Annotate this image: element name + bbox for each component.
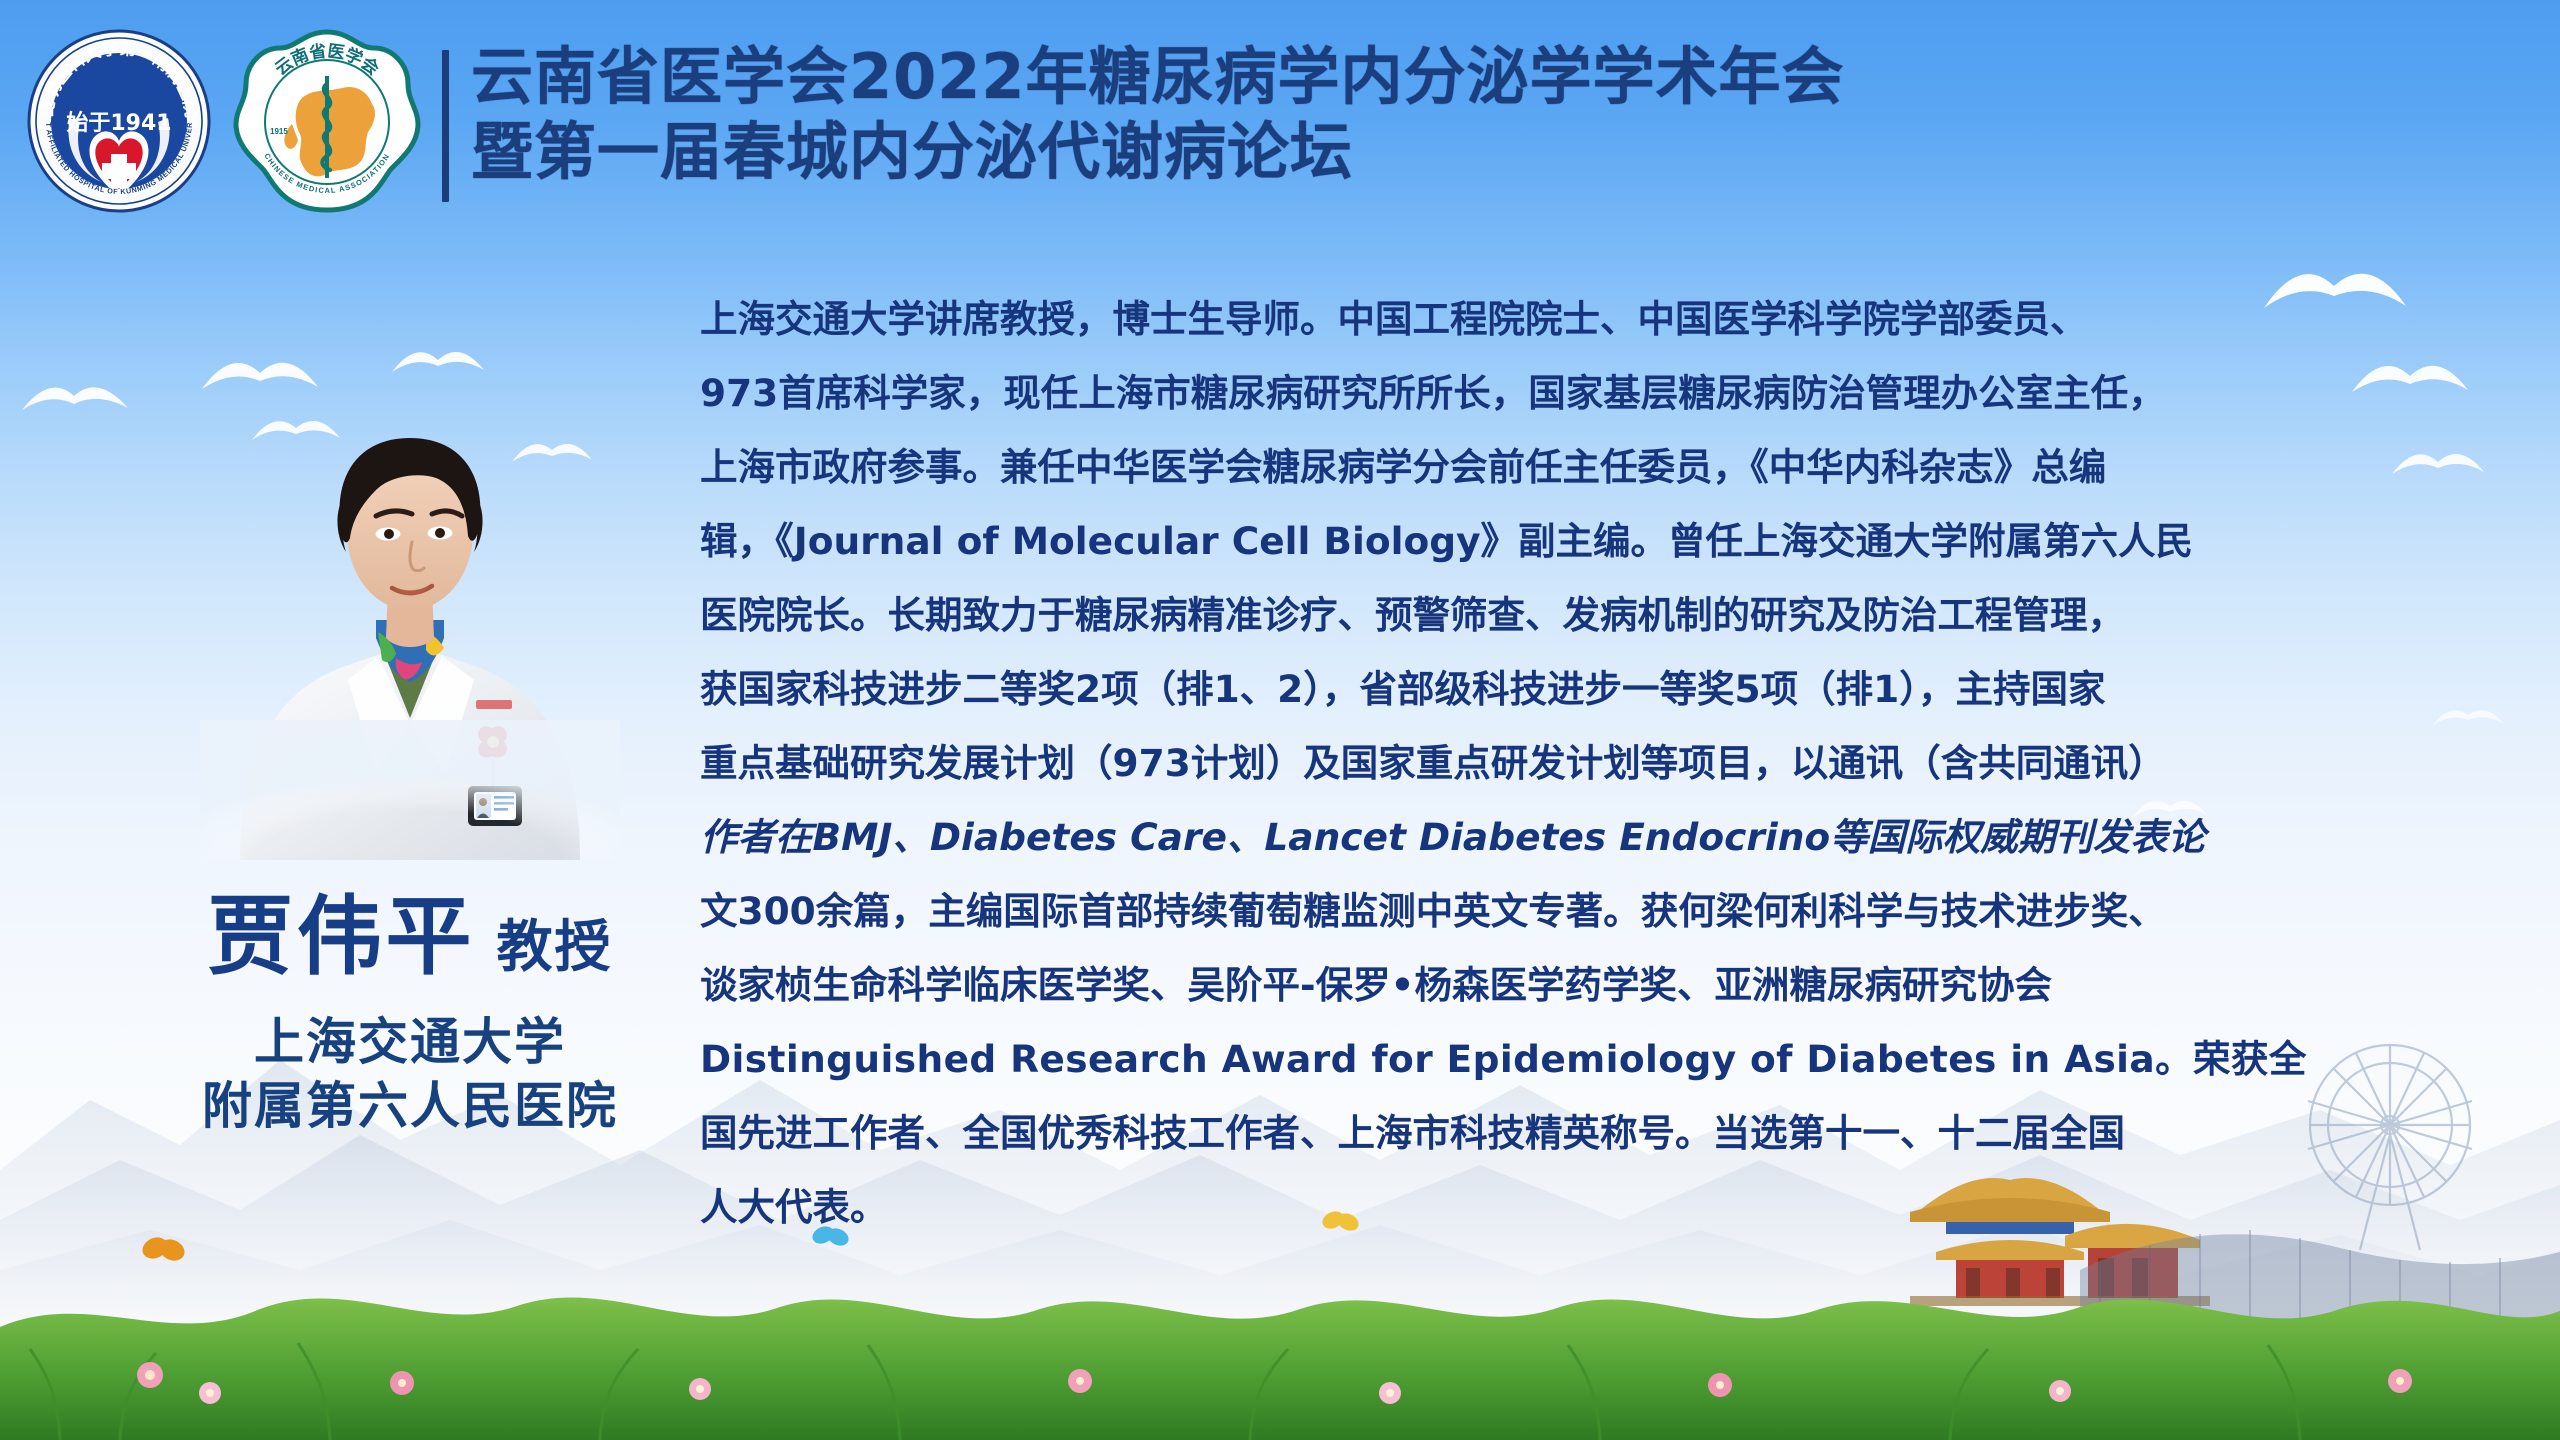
bio-line: 医院院长。长期致力于糖尿病精准诊疗、预警筛查、发病机制的研究及防治工程管理， (700, 578, 2442, 652)
speaker-name-row: 贾伟平 教授 (130, 894, 690, 980)
slide-header: 昆明医科大学第一附属医院 始于1941 FIRST AFFILIATED HOS… (0, 0, 2560, 250)
speaker-affiliation-line-2: 附属第六人民医院 (130, 1074, 690, 1138)
logo-left-founding-year: 始于1941 (66, 110, 171, 136)
speaker-name: 贾伟平 (208, 894, 475, 980)
bio-line: 作者在BMJ、Diabetes Care、Lancet Diabetes End… (700, 800, 2442, 874)
conference-speaker-slide: 昆明医科大学第一附属医院 始于1941 FIRST AFFILIATED HOS… (0, 0, 2560, 1440)
yunnan-medical-association-logo: 云南省医学会 CHINESE MEDICAL ASSOCIATION 1915 (232, 26, 422, 216)
speaker-academic-title: 教授 (497, 920, 613, 976)
bio-line: 973首席科学家，现任上海市糖尿病研究所所长，国家基层糖尿病防治管理办公室主任， (700, 356, 2442, 430)
bio-line: 获国家科技进步二等奖2项（排1、2），省部级科技进步一等奖5项（排1），主持国家 (700, 652, 2442, 726)
bio-line: Distinguished Research Award for Epidemi… (700, 1022, 2442, 1096)
conference-title-line-1: 云南省医学会2022年糖尿病学内分泌学学术年会 (471, 44, 1845, 111)
bio-line: 国先进工作者、全国优秀科技工作者、上海市科技精英称号。当选第十一、十二届全国 (700, 1096, 2442, 1170)
bio-line: 辑，《Journal of Molecular Cell Biology》副主编… (700, 504, 2442, 578)
bio-line: 重点基础研究发展计划（973计划）及国家重点研发计划等项目，以通讯（含共同通讯） (700, 726, 2442, 800)
bio-line: 上海交通大学讲席教授，博士生导师。中国工程院院士、中国医学科学院学部委员、 (700, 282, 2442, 356)
butterfly-icon (140, 1234, 186, 1270)
bio-line: 上海市政府参事。兼任中华医学会糖尿病学分会前任主任委员，《中华内科杂志》总编 (700, 430, 2442, 504)
logo-right-year: 1915 (270, 127, 288, 136)
speaker-biography: 上海交通大学讲席教授，博士生导师。中国工程院院士、中国医学科学院学部委员、 97… (700, 282, 2442, 1244)
bio-line: 谈家桢生命科学临床医学奖、吴阶平-保罗•杨森医学药学奖、亚洲糖尿病研究协会 (700, 948, 2442, 1022)
bio-line: 人大代表。 (700, 1170, 2442, 1244)
kunming-medical-university-first-affiliated-hospital-logo: 昆明医科大学第一附属医院 始于1941 FIRST AFFILIATED HOS… (24, 26, 214, 216)
title-divider (442, 50, 449, 202)
seagull-icon (20, 370, 130, 422)
speaker-portrait (200, 320, 620, 860)
speaker-affiliation: 上海交通大学 附属第六人民医院 (130, 1010, 690, 1138)
conference-title-line-2: 暨第一届春城内分泌代谢病论坛 (471, 119, 1845, 186)
speaker-affiliation-line-1: 上海交通大学 (130, 1010, 690, 1074)
conference-title-block: 云南省医学会2022年糖尿病学内分泌学学术年会 暨第一届春城内分泌代谢病论坛 (471, 18, 1845, 186)
logo-group: 昆明医科大学第一附属医院 始于1941 FIRST AFFILIATED HOS… (24, 18, 422, 216)
bio-line: 文300余篇，主编国际首部持续葡萄糖监测中英文专著。获何梁何利科学与技术进步奖、 (700, 874, 2442, 948)
speaker-block: 贾伟平 教授 上海交通大学 附属第六人民医院 (130, 320, 690, 1138)
